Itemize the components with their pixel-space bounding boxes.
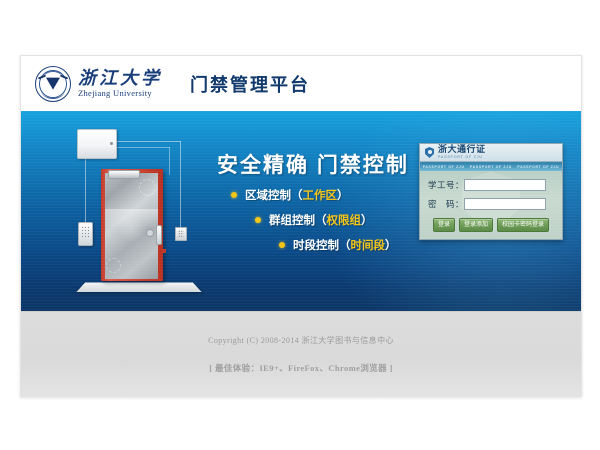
access-control-door-illustration	[59, 127, 209, 302]
feature-label: 群组控制（	[269, 212, 327, 228]
feature-list: 区域控制（工作区） 群组控制（权限组） 时段控制（时间段）	[231, 187, 397, 262]
feature-suffix: ）	[361, 212, 373, 228]
feature-label: 时段控制（	[293, 237, 351, 253]
login-button-row: 登录 登录添加 校园卡密码登录	[420, 217, 562, 232]
login-panel: 浙大通行证 PASSPORT OF ZJU PASSPORT OF ZJU PA…	[419, 143, 563, 240]
form-row-username: 学工号：	[420, 179, 562, 191]
form-row-password: 密 码：	[420, 198, 562, 210]
university-name-en: Zhejiang University	[78, 89, 162, 98]
site-header: 浙江大学 Zhejiang University 门禁管理平台	[21, 56, 581, 111]
passport-strip-text: PASSPORT OF ZJU	[517, 165, 559, 169]
feature-accent: 权限组	[327, 212, 362, 228]
username-input[interactable]	[464, 179, 546, 191]
page-title: 门禁管理平台	[190, 71, 310, 97]
controller-box-icon	[77, 129, 117, 159]
floor-plate	[76, 283, 201, 292]
door-handle-icon	[156, 225, 162, 245]
copyright-text: Copyright (C) 2008-2014 浙江大学图书与信息中心	[208, 335, 394, 346]
bullet-icon	[231, 192, 237, 198]
door-knob-icon	[146, 229, 154, 237]
university-name: 浙江大学 Zhejiang University	[78, 69, 162, 98]
feature-suffix: ）	[337, 187, 349, 203]
feature-label: 区域控制（	[245, 187, 303, 203]
university-logo[interactable]: 浙江大学 Zhejiang University	[35, 66, 162, 102]
bullet-icon	[255, 217, 261, 223]
login-button[interactable]: 登录	[433, 218, 455, 232]
login-panel-titlebar: 浙大通行证 PASSPORT OF ZJU	[420, 144, 562, 162]
door-frame	[101, 169, 163, 281]
university-name-cn: 浙江大学	[78, 69, 162, 87]
card-reader-icon	[175, 227, 187, 241]
feature-accent: 工作区	[303, 187, 338, 203]
browser-compatibility-text: [ 最佳体验：IE9+、FireFox、Chrome浏览器 ]	[209, 362, 393, 374]
banner-slogan: 安全精确 门禁控制	[217, 149, 409, 179]
bullet-icon	[279, 242, 285, 248]
keypad-reader-icon	[78, 222, 93, 246]
passport-strip-text: PASSPORT OF ZJU	[423, 165, 465, 169]
passport-strip-text: PASSPORT OF ZJU	[470, 165, 512, 169]
passport-strip: PASSPORT OF ZJU PASSPORT OF ZJU PASSPORT…	[420, 162, 562, 171]
feature-item-group-control: 群组控制（权限组）	[255, 212, 397, 228]
feature-suffix: ）	[385, 237, 397, 253]
site-footer: Copyright (C) 2008-2014 浙江大学图书与信息中心 [ 最佳…	[21, 311, 581, 396]
hero-banner: 安全精确 门禁控制 区域控制（工作区） 群组控制（权限组） 时段控制（时间段） …	[21, 111, 581, 311]
password-input[interactable]	[464, 198, 546, 210]
feature-accent: 时间段	[351, 237, 386, 253]
password-label: 密 码：	[428, 198, 464, 210]
shield-icon	[425, 147, 434, 158]
zhejiang-university-emblem-icon	[35, 66, 71, 102]
feature-item-area-control: 区域控制（工作区）	[231, 187, 397, 203]
login-form: 学工号： 密 码： 登录 登录添加 校园卡密码登录	[420, 171, 562, 239]
door-closer-icon	[108, 170, 140, 179]
door-leaf	[105, 173, 158, 279]
campus-card-login-button[interactable]: 校园卡密码登录	[497, 218, 549, 232]
app-page: 浙江大学 Zhejiang University 门禁管理平台	[20, 55, 582, 397]
login-panel-title: 浙大通行证	[438, 145, 486, 154]
login-add-button[interactable]: 登录添加	[459, 218, 493, 232]
login-panel-subtitle: PASSPORT OF ZJU	[438, 156, 486, 160]
username-label: 学工号：	[428, 179, 464, 191]
exit-button-icon	[162, 249, 166, 253]
feature-item-time-control: 时段控制（时间段）	[279, 237, 397, 253]
